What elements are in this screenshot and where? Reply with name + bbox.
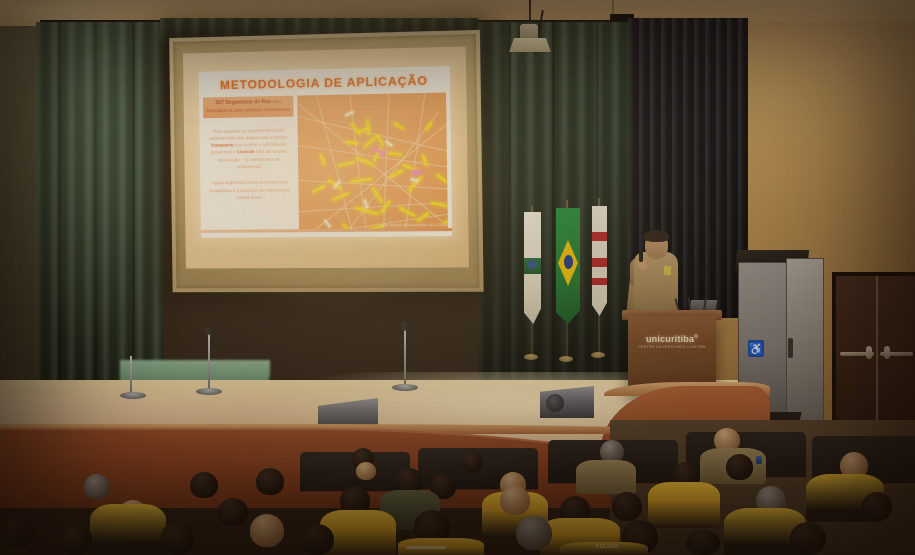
uniform-shoulder-patch — [756, 456, 762, 464]
podium-logo-registered-icon: ® — [694, 334, 698, 340]
mic-head-left-icon — [205, 326, 211, 335]
audience-torso-vest — [90, 504, 166, 555]
slide-footer-bar — [201, 228, 452, 233]
slide-tag-sub: Reincidência para Aplicação Policiamento — [206, 106, 291, 114]
audience-head — [790, 522, 826, 555]
slide-tag-main: 557 Segmentos de Rua — [215, 99, 271, 106]
podium-logo-text: unicuritiba — [646, 334, 694, 344]
vest-label: POLÍCIA — [596, 544, 618, 550]
projection-screen-surface: METODOLOGIA DE APLICAÇÃO 557 Segmentos d… — [183, 46, 469, 268]
flag-base-municipal — [591, 352, 605, 358]
slide-body: 557 Segmentos de Rua com Reincidência pa… — [199, 87, 452, 231]
slide-p1-pre: Para resposta ao experimento foram estab… — [209, 127, 288, 140]
wheelchair-lift-handle[interactable] — [788, 338, 793, 358]
audience-head — [58, 524, 92, 555]
stage-curtain-right — [478, 22, 628, 382]
mic-stand-pole-right — [404, 326, 406, 388]
audience-torso-vest — [648, 482, 720, 528]
audience-head — [0, 516, 34, 548]
audience-head — [160, 522, 194, 555]
stage-light-body — [520, 24, 538, 40]
door-handle-left[interactable] — [866, 346, 872, 359]
slide-tag-small: com — [273, 99, 281, 104]
audience-head — [462, 452, 483, 472]
door-handle-right[interactable] — [884, 346, 890, 359]
audience-head — [356, 462, 376, 480]
audience-head — [726, 454, 753, 480]
speaker-hair — [644, 230, 669, 242]
stage-curtain-left — [36, 22, 164, 390]
speaker-rank-insignia — [664, 266, 671, 275]
audience-head — [84, 474, 110, 499]
mic-stand-pole-left — [208, 330, 210, 392]
audience-head — [516, 516, 552, 550]
mic-stand-base-far-left — [120, 392, 146, 399]
slide-p1-bold-control: Controle — [237, 150, 255, 155]
slide-text-column: 557 Segmentos de Rua com Reincidência pa… — [203, 96, 295, 231]
slide-paragraph-1: Para resposta ao experimento foram estab… — [203, 126, 294, 171]
audience-head — [300, 524, 334, 555]
flag-brazil-icon — [556, 208, 580, 324]
podium-logo: unicuritiba® — [628, 334, 716, 344]
stage-light-icon — [509, 38, 551, 52]
presentation-slide: METODOLOGIA DE APLICAÇÃO 557 Segmentos d… — [199, 66, 452, 238]
flag-parana-icon — [524, 212, 541, 324]
audience-head — [686, 530, 720, 555]
audience-head — [862, 492, 892, 521]
mic-head-right-icon — [401, 322, 407, 331]
flag-base-parana — [524, 354, 538, 360]
slide-hotspot-map: Fonte: Sistema SIGESGUARDA / BO-CIOPS — [297, 92, 448, 230]
mic-stand-base-right — [392, 384, 418, 391]
audience-torso-vest — [398, 538, 484, 555]
slide-paragraph-2: Alguns segmentos foram excluídos para in… — [204, 179, 295, 202]
audience-head — [190, 472, 218, 498]
flag-municipal-icon — [592, 206, 607, 316]
light-cable — [529, 0, 531, 26]
audience-torso — [576, 460, 636, 494]
audience-head — [256, 468, 284, 495]
slide-map-caption: Fonte: Sistema SIGESGUARDA / BO-CIOPS — [380, 223, 445, 228]
audience-head — [250, 514, 284, 547]
projection-screen-frame: METODOLOGIA DE APLICAÇÃO 557 Segmentos d… — [169, 30, 483, 292]
mic-stand-base-left — [196, 388, 222, 395]
podium-logo-subtitle: CENTRO UNIVERSITARIO CURITIBA — [628, 345, 716, 349]
mic-stand-pole-far-left — [130, 356, 132, 396]
audience-head — [612, 492, 642, 521]
stage-monitor-grille-icon — [546, 394, 564, 412]
audience-head — [500, 486, 530, 515]
wheelchair-accessibility-icon: ♿ — [748, 340, 764, 357]
handheld-microphone-icon — [639, 250, 643, 262]
flag-base-brazil — [559, 356, 573, 362]
auditorium-photo: METODOLOGIA DE APLICAÇÃO 557 Segmentos d… — [0, 0, 915, 555]
audience-head — [218, 498, 248, 526]
slide-p1-bold-treatment: Tratamento — [211, 143, 234, 148]
slide-highlight-box: 557 Segmentos de Rua com Reincidência pa… — [203, 96, 294, 118]
